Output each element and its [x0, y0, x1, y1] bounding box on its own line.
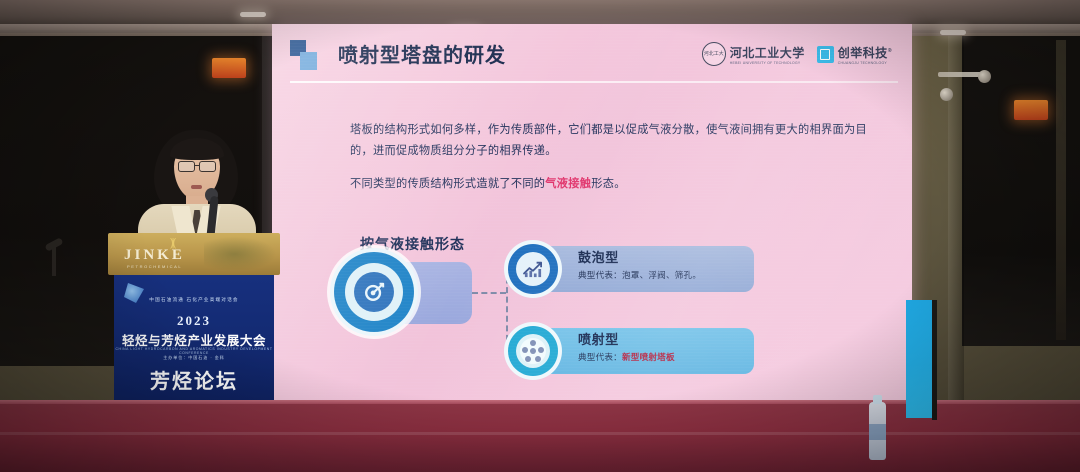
- paragraph-2-highlight: 气液接触: [545, 178, 591, 190]
- eyeglasses-icon: [199, 161, 216, 172]
- podium-top: )|( JINKE PETROCHEMICAL: [108, 233, 280, 275]
- side-door: [1056, 40, 1066, 340]
- growth-chart-icon: [504, 240, 562, 298]
- banner-stand-pole: [932, 300, 937, 420]
- paragraph-2-suffix: 形态。: [591, 178, 625, 190]
- speaker-figure: [132, 130, 260, 250]
- card-subtitle-label: 典型代表：: [578, 352, 622, 362]
- card-subtitle: 典型代表：新型喷射塔板: [578, 351, 675, 363]
- logo-name-cn: 河北工业大学: [730, 44, 805, 61]
- side-banner-stand: [906, 300, 934, 418]
- podium: )|( JINKE PETROCHEMICAL 中国石油流通 石化产业高端对话会…: [108, 233, 280, 408]
- card-subtitle-value: 新型喷射塔板: [622, 352, 675, 362]
- sieve-glyph: [520, 338, 546, 364]
- paragraph-2-prefix: 不同类型的传质结构形式造就了不同的: [350, 178, 545, 190]
- speaker-mouth: [191, 185, 202, 189]
- wall-lamp-head-icon: [978, 70, 991, 83]
- podium-decor: [204, 235, 280, 273]
- growth-glyph: [522, 260, 544, 278]
- podium-brand-sub: PETROCHEMICAL: [127, 264, 182, 269]
- wall-lamp-head-icon: [940, 88, 953, 101]
- logo-name-en: CHUANGJU TECHNOLOGY: [838, 61, 892, 65]
- diagram-card-bubble[interactable]: 鼓泡型 典型代表：泡罩、浮阀、筛孔。: [522, 246, 754, 292]
- slide-body: 塔板的结构形式如何多样，作为传质部件，它们都是以促成气液分散，使气液间拥有更大的…: [350, 120, 868, 195]
- logo-name-cn: 创举科技®: [838, 44, 892, 61]
- podium-brand: JINKE: [124, 247, 185, 264]
- card-subtitle-label: 典型代表：: [578, 270, 622, 280]
- logo-hebei-university: 河北工大 河北工业大学 HEBEI UNIVERSITY OF TECHNOLO…: [702, 42, 805, 66]
- dart-glyph: [363, 281, 385, 303]
- logo-group: 河北工大 河北工业大学 HEBEI UNIVERSITY OF TECHNOLO…: [702, 42, 892, 66]
- exit-sign-icon: [1014, 100, 1048, 120]
- eyeglasses-icon: [178, 161, 195, 172]
- logo-chuangju-tech: 创举科技® CHUANGJU TECHNOLOGY: [817, 44, 892, 65]
- sieve-holes-icon: [504, 322, 562, 380]
- card-subtitle-value: 泡罩、浮阀、筛孔。: [622, 270, 701, 280]
- card-text: 喷射型 典型代表：新型喷射塔板: [578, 332, 675, 363]
- university-seal-icon: 河北工大: [702, 42, 726, 66]
- body-paragraph-1: 塔板的结构形式如何多样，作为传质部件，它们都是以促成气液分散，使气液间拥有更大的…: [350, 120, 868, 162]
- podium-banner: 中国石油流通 石化产业高端对话会 2023 轻烃与芳烃产业发展大会 CHINA …: [114, 275, 274, 408]
- photo-scene: 喷射型塔盘的研发 河北工大 河北工业大学 HEBEI UNIVERSITY OF…: [0, 0, 1080, 472]
- slide-title-row: 喷射型塔盘的研发 河北工大 河北工业大学 HEBEI UNIVERSITY OF…: [290, 36, 898, 84]
- banner-line-top: 中国石油流通 石化产业高端对话会: [114, 297, 274, 303]
- mic-stand: [52, 246, 56, 276]
- ceiling-light-icon: [940, 30, 966, 35]
- diagram-card-jet[interactable]: 喷射型 典型代表：新型喷射塔板: [522, 328, 754, 374]
- water-bottle: [869, 402, 886, 460]
- logo-name-en: HEBEI UNIVERSITY OF TECHNOLOGY: [730, 61, 805, 65]
- page-title: 喷射型塔盘的研发: [338, 39, 506, 68]
- eyeglasses-bridge: [194, 165, 200, 166]
- projection-slide[interactable]: 喷射型塔盘的研发 河北工大 河北工业大学 HEBEI UNIVERSITY OF…: [272, 24, 912, 410]
- exit-sign-icon: [212, 58, 246, 78]
- connector-stem: [472, 292, 506, 294]
- slide-diagram: 按气液接触形态: [272, 224, 912, 404]
- card-subtitle: 典型代表：泡罩、浮阀、筛孔。: [578, 269, 701, 281]
- title-divider: [290, 81, 898, 83]
- registered-mark: ®: [888, 48, 892, 54]
- chuangju-mark-icon: [817, 46, 834, 63]
- banner-headline-en: CHINA LIGHT HYDROCARBON AND AROMATICS IN…: [114, 347, 274, 355]
- target-dart-icon: [330, 248, 418, 336]
- banner-year: 2023: [114, 313, 274, 329]
- card-title: 喷射型: [578, 332, 675, 348]
- card-text: 鼓泡型 典型代表：泡罩、浮阀、筛孔。: [578, 250, 701, 281]
- seal-text: 河北工大: [704, 52, 724, 57]
- card-title: 鼓泡型: [578, 250, 701, 266]
- banner-subline: 主办单位：中国石油 · 金科: [114, 355, 274, 361]
- banner-forum: 芳烃论坛: [114, 365, 274, 394]
- body-paragraph-2: 不同类型的传质结构形式造就了不同的气液接触形态。: [350, 174, 868, 195]
- square-light-icon: [300, 52, 317, 70]
- carpet-seam: [0, 432, 1080, 435]
- ceiling-light-icon: [240, 12, 266, 17]
